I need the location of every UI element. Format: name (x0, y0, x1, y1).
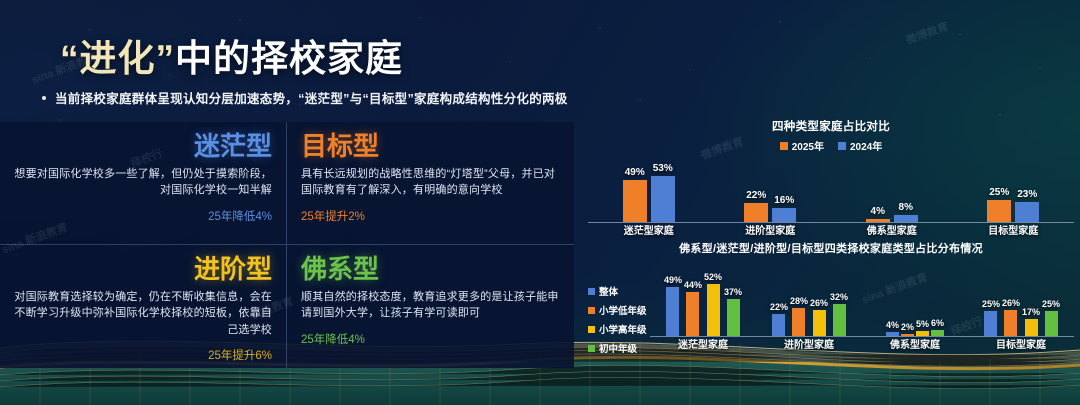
category-label: 迷茫型家庭 (588, 222, 710, 237)
bar (772, 208, 796, 222)
bar-group: 49%53% (588, 157, 710, 222)
legend-item[interactable]: 小学低年级 (588, 303, 647, 317)
bar-column: 8% (894, 157, 918, 222)
bar (792, 308, 805, 336)
bar-value-label: 22% (770, 302, 788, 312)
card-buddhist-delta: 25年降低4% (301, 331, 560, 347)
card-goal-title: 目标型 (301, 132, 560, 161)
bar (707, 284, 720, 336)
bar (833, 304, 846, 336)
legend-label: 2025年 (792, 138, 824, 153)
legend-label: 小学低年级 (599, 303, 647, 317)
bar-value-label: 49% (664, 275, 682, 285)
bar-value-label: 37% (724, 287, 742, 297)
page-title-quoted: “进化” (60, 38, 175, 79)
bar-column: 17% (1022, 259, 1040, 336)
bar-group: 49%44%52%37% (650, 259, 756, 336)
bar-value-label: 2% (901, 322, 914, 332)
bar (1045, 311, 1058, 336)
bar (984, 311, 997, 336)
bar (686, 292, 699, 336)
category-label: 进阶型家庭 (756, 336, 862, 351)
bar-group: 22%16% (710, 157, 832, 222)
bar (1015, 202, 1039, 222)
bar-value-label: 26% (1002, 298, 1020, 308)
category-label: 佛系型家庭 (862, 336, 968, 351)
chart-bottom-legend: 整体小学低年级小学高年级初中年级 (588, 284, 647, 355)
bar-column: 16% (772, 157, 796, 222)
bar (772, 314, 785, 336)
card-buddhist: 佛系型 顺其自然的择校态度，教育追求更多的是让孩子能申请到国外大学，让孩子有学可… (287, 245, 574, 368)
bar-column: 5% (916, 259, 929, 336)
bar-column: 49% (623, 157, 647, 222)
title-block: “进化”中的择校家庭 (60, 28, 403, 82)
card-advanced-title: 进阶型 (14, 255, 272, 284)
bar (987, 200, 1011, 222)
bar (744, 203, 768, 222)
bar-column: 23% (1015, 157, 1039, 222)
bar (727, 299, 740, 336)
bar-column: 4% (886, 259, 899, 336)
bar-value-label: 25% (982, 299, 1000, 309)
bar-column: 44% (684, 259, 702, 336)
category-label: 目标型家庭 (968, 336, 1074, 351)
card-confused: 迷茫型 想要对国际化学校多一些了解，但仍处于摸索阶段，对国际化学校一知半解 25… (0, 122, 287, 245)
bar-value-label: 5% (916, 319, 929, 329)
category-label: 佛系型家庭 (831, 222, 953, 237)
bar-value-label: 8% (899, 202, 913, 213)
bar-value-label: 25% (1042, 299, 1060, 309)
category-label: 迷茫型家庭 (650, 336, 756, 351)
card-goal: 目标型 具有长远规划的战略性思维的“灯塔型”父母，并已对国际教育有了解深入，有明… (287, 122, 574, 245)
bar-column: 22% (770, 259, 788, 336)
bar-value-label: 4% (886, 320, 899, 330)
page-title: “进化”中的择校家庭 (60, 28, 403, 82)
chart-family-type-share-comparison: 四种类型家庭占比对比 2025年2024年 49%53%22%16%4%8%25… (588, 118, 1074, 240)
bar-column: 52% (704, 259, 722, 336)
bar (1004, 310, 1017, 336)
bar-value-label: 32% (830, 292, 848, 302)
bar-value-label: 49% (625, 167, 645, 178)
bar (813, 310, 826, 336)
bar (894, 215, 918, 222)
card-buddhist-title: 佛系型 (301, 255, 560, 284)
card-confused-title: 迷茫型 (14, 132, 272, 161)
bar-group: 4%2%5%6% (862, 259, 968, 336)
card-goal-desc: 具有长远规划的战略性思维的“灯塔型”父母，并已对国际教育有了解深入，有明确的意向… (301, 166, 560, 199)
legend-swatch-icon (838, 142, 846, 150)
legend-swatch-icon (588, 288, 595, 295)
bar (623, 180, 647, 222)
bar (1025, 319, 1038, 336)
bar-group: 25%23% (953, 157, 1075, 222)
legend-swatch-icon (780, 142, 788, 150)
bar-column: 28% (790, 259, 808, 336)
bar-value-label: 25% (989, 187, 1009, 198)
chart-top-title: 四种类型家庭占比对比 (588, 118, 1074, 134)
bar-value-label: 53% (653, 163, 673, 174)
family-type-card-grid: 迷茫型 想要对国际化学校多一些了解，但仍处于摸索阶段，对国际化学校一知半解 25… (0, 122, 574, 368)
bar-group: 4%8% (831, 157, 953, 222)
bar-column: 25% (982, 259, 1000, 336)
legend-item[interactable]: 整体 (588, 284, 647, 298)
legend-label: 整体 (599, 284, 618, 298)
bar-column: 2% (901, 259, 914, 336)
chart-top-plot: 49%53%22%16%4%8%25%23% 迷茫型家庭进阶型家庭佛系型家庭目标… (588, 157, 1074, 237)
card-advanced: 进阶型 对国际教育选择较为确定，仍在不断收集信息，会在不断学习升级中弥补国际化学… (0, 245, 287, 368)
bar-value-label: 22% (746, 190, 766, 201)
legend-item[interactable]: 小学高年级 (588, 322, 647, 336)
bar-column: 37% (724, 259, 742, 336)
bar-column: 26% (810, 259, 828, 336)
bar-group: 22%28%26%32% (756, 259, 862, 336)
bar-value-label: 17% (1022, 307, 1040, 317)
bar-column: 49% (664, 259, 682, 336)
bar-value-label: 4% (871, 206, 885, 217)
card-confused-desc: 想要对国际化学校多一些了解，但仍处于摸索阶段，对国际化学校一知半解 (14, 166, 272, 199)
chart-family-type-distribution-by-grade: 佛系型/迷茫型/进阶型/目标型四类择校家庭类型占比分布情况 整体小学低年级小学高… (588, 240, 1074, 368)
bar-column: 32% (830, 259, 848, 336)
bar-column: 26% (1002, 259, 1020, 336)
bar-column: 6% (931, 259, 944, 336)
category-label: 目标型家庭 (953, 222, 1075, 237)
chart-bottom-title: 佛系型/迷茫型/进阶型/目标型四类择校家庭类型占比分布情况 (588, 240, 1074, 256)
bar-group: 25%26%17%25% (968, 259, 1074, 336)
legend-swatch-icon (588, 326, 595, 333)
legend-item[interactable]: 2025年 (780, 138, 824, 153)
legend-swatch-icon (588, 307, 595, 314)
bar-value-label: 28% (790, 296, 808, 306)
legend-swatch-icon (588, 345, 595, 352)
card-goal-delta: 25年提升2% (301, 208, 560, 224)
bar-column: 22% (744, 157, 768, 222)
card-advanced-desc: 对国际教育选择较为确定，仍在不断收集信息，会在不断学习升级中弥补国际化学校择校的… (14, 289, 272, 339)
chart-bottom-plot: 49%44%52%37%22%28%26%32%4%2%5%6%25%26%17… (650, 259, 1074, 351)
card-buddhist-desc: 顺其自然的择校态度，教育追求更多的是让孩子能申请到国外大学，让孩子有学可读即可 (301, 289, 560, 322)
bar-column: 25% (987, 157, 1011, 222)
bar-column: 53% (651, 157, 675, 222)
bar-value-label: 44% (684, 280, 702, 290)
bar-value-label: 23% (1017, 189, 1037, 200)
bar-column: 25% (1042, 259, 1060, 336)
bar-value-label: 6% (931, 318, 944, 328)
bullet-icon (42, 96, 46, 100)
category-label: 进阶型家庭 (710, 222, 832, 237)
bar (666, 287, 679, 336)
subtitle-text: 当前择校家庭群体呈现认知分层加速态势，“迷茫型”与“目标型”家庭构成结构性分化的… (55, 88, 568, 107)
bar-column: 4% (866, 157, 890, 222)
legend-item[interactable]: 2024年 (838, 138, 882, 153)
bar-value-label: 52% (704, 272, 722, 282)
legend-label: 初中年级 (599, 341, 637, 355)
bar-value-label: 16% (774, 195, 794, 206)
bar-value-label: 26% (810, 298, 828, 308)
page-title-rest: 中的择校家庭 (175, 38, 403, 79)
legend-label: 2024年 (850, 138, 882, 153)
card-confused-delta: 25年降低4% (14, 208, 272, 224)
legend-item[interactable]: 初中年级 (588, 341, 647, 355)
subtitle-row: 当前择校家庭群体呈现认知分层加速态势，“迷茫型”与“目标型”家庭构成结构性分化的… (42, 88, 568, 107)
card-advanced-delta: 25年提升6% (14, 347, 272, 363)
bar (651, 176, 675, 222)
chart-top-legend: 2025年2024年 (588, 138, 1074, 153)
legend-label: 小学高年级 (599, 322, 647, 336)
